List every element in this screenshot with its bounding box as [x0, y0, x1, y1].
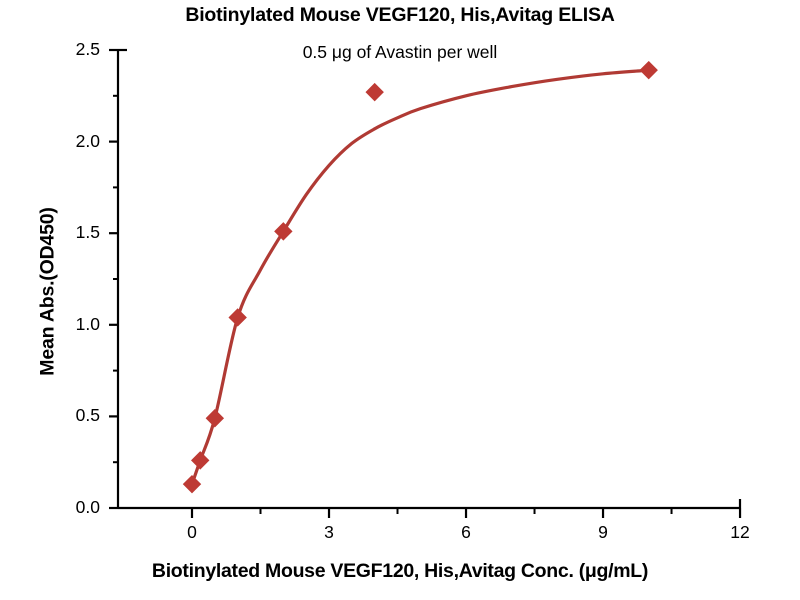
x-tick-label: 0 — [167, 522, 217, 543]
y-tick-label: 1.5 — [40, 222, 100, 243]
data-point-marker — [206, 410, 223, 427]
data-point-marker — [275, 223, 292, 240]
y-tick-label: 0.5 — [40, 405, 100, 426]
chart-figure: Biotinylated Mouse VEGF120, His,Avitag E… — [0, 0, 800, 600]
data-point-marker — [229, 309, 246, 326]
y-tick-label: 0.0 — [40, 497, 100, 518]
data-point-marker — [192, 452, 209, 469]
data-series — [184, 62, 658, 493]
y-tick-label: 1.0 — [40, 314, 100, 335]
x-tick-label: 9 — [578, 522, 628, 543]
data-point-marker — [184, 476, 201, 493]
x-tick-label: 3 — [304, 522, 354, 543]
plot-area — [0, 0, 800, 600]
y-tick-label: 2.0 — [40, 131, 100, 152]
y-tick-label: 2.5 — [40, 39, 100, 60]
x-tick-label: 6 — [441, 522, 491, 543]
data-point-marker — [366, 84, 383, 101]
data-point-marker — [640, 62, 657, 79]
x-tick-label: 12 — [715, 522, 765, 543]
